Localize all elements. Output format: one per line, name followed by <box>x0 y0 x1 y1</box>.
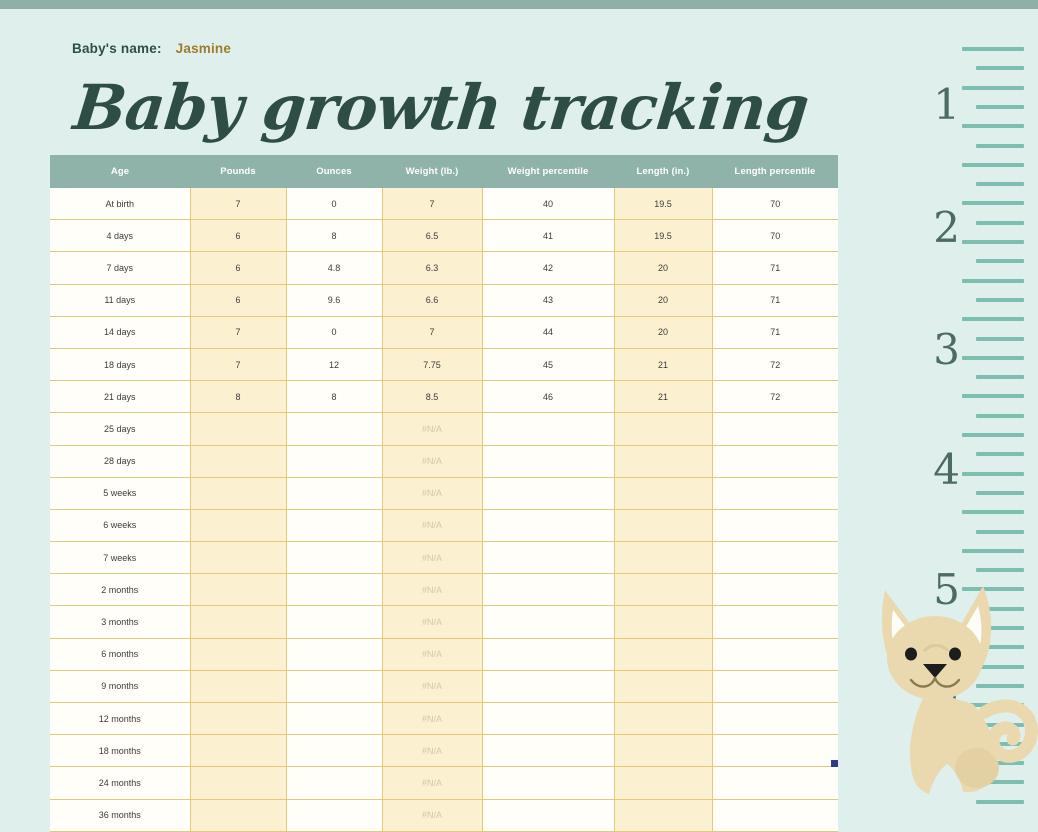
cell-age[interactable]: 18 months <box>50 735 190 767</box>
table-cell[interactable] <box>482 413 614 445</box>
table-cell[interactable]: #N/A <box>382 606 482 638</box>
table-cell[interactable]: 45 <box>482 348 614 380</box>
table-cell[interactable] <box>712 670 838 702</box>
table-cell[interactable] <box>482 638 614 670</box>
table-row[interactable]: 28 days#N/A <box>50 445 838 477</box>
table-cell[interactable] <box>286 767 382 799</box>
column-header-pounds: Pounds <box>190 155 286 188</box>
table-cell[interactable]: 7.75 <box>382 348 482 380</box>
table-cell[interactable] <box>190 799 286 831</box>
table-cell[interactable]: #N/A <box>382 670 482 702</box>
column-header-length-percentile: Length percentile <box>712 155 838 188</box>
table-cell[interactable]: 8 <box>286 381 382 413</box>
table-cell[interactable] <box>482 445 614 477</box>
ruler-tick <box>962 279 1024 283</box>
table-row[interactable]: 6 months#N/A <box>50 638 838 670</box>
table-cell[interactable] <box>190 670 286 702</box>
ruler-tick <box>962 240 1024 244</box>
table-cell[interactable] <box>190 606 286 638</box>
table-cell[interactable]: #N/A <box>382 542 482 574</box>
column-header-weight-percentile: Weight percentile <box>482 155 614 188</box>
table-row[interactable]: 4 days686.54119.570 <box>50 220 838 252</box>
table-cell[interactable]: 12 <box>286 348 382 380</box>
table-cell[interactable]: 21 <box>614 348 712 380</box>
table-cell[interactable] <box>614 413 712 445</box>
table-cell[interactable]: 6.6 <box>382 284 482 316</box>
table-cell[interactable]: 43 <box>482 284 614 316</box>
table-row[interactable]: 7 days64.86.3422071 <box>50 252 838 284</box>
table-cell[interactable]: 71 <box>712 252 838 284</box>
table-cell[interactable] <box>712 542 838 574</box>
ruler-tick <box>976 414 1024 418</box>
table-cell[interactable] <box>190 735 286 767</box>
table-cell[interactable] <box>614 574 712 606</box>
table-row[interactable]: 7 weeks#N/A <box>50 542 838 574</box>
table-cell[interactable]: #N/A <box>382 413 482 445</box>
ruler-tick <box>976 452 1024 456</box>
baby-name-label: Baby's name: <box>72 41 162 56</box>
table-row[interactable]: 36 months#N/A <box>50 799 838 831</box>
table-cell[interactable] <box>482 509 614 541</box>
table-cell[interactable]: #N/A <box>382 703 482 735</box>
table-cell[interactable] <box>712 606 838 638</box>
table-row[interactable]: At birth7074019.570 <box>50 188 838 220</box>
column-header-weight-lb: Weight (lb.) <box>382 155 482 188</box>
table-cell[interactable] <box>286 574 382 606</box>
ruler-tick <box>976 182 1024 186</box>
table-cell[interactable] <box>190 574 286 606</box>
cell-age[interactable]: 6 weeks <box>50 509 190 541</box>
table-cell[interactable] <box>712 735 838 767</box>
table-cell[interactable]: 9.6 <box>286 284 382 316</box>
table-cell[interactable]: #N/A <box>382 799 482 831</box>
table-cell[interactable]: 72 <box>712 348 838 380</box>
table-cell[interactable] <box>712 799 838 831</box>
table-cell[interactable] <box>614 799 712 831</box>
cell-age[interactable]: 4 days <box>50 220 190 252</box>
table-cell[interactable] <box>286 413 382 445</box>
table-cell[interactable] <box>482 670 614 702</box>
table-cell[interactable] <box>190 542 286 574</box>
table-cell[interactable] <box>190 477 286 509</box>
table-cell[interactable]: 70 <box>712 220 838 252</box>
table-cell[interactable] <box>712 767 838 799</box>
growth-table[interactable]: AgePoundsOuncesWeight (lb.)Weight percen… <box>50 155 838 832</box>
table-cell[interactable]: 46 <box>482 381 614 413</box>
table-cell[interactable] <box>482 574 614 606</box>
table-cell[interactable] <box>614 703 712 735</box>
cell-age[interactable]: At birth <box>50 188 190 220</box>
table-cell[interactable]: 7 <box>190 348 286 380</box>
table-cell[interactable] <box>712 413 838 445</box>
ruler-tick <box>976 337 1024 341</box>
ruler-tick <box>962 394 1024 398</box>
ruler-tick <box>962 86 1024 90</box>
table-cell[interactable]: #N/A <box>382 638 482 670</box>
ruler-tick <box>976 259 1024 263</box>
table-cell[interactable]: 72 <box>712 381 838 413</box>
column-header-ounces: Ounces <box>286 155 382 188</box>
cell-age[interactable]: 7 days <box>50 252 190 284</box>
ruler-tick <box>962 549 1024 553</box>
table-cell[interactable] <box>614 638 712 670</box>
cell-age[interactable]: 5 weeks <box>50 477 190 509</box>
table-cell[interactable] <box>286 638 382 670</box>
cell-age[interactable]: 28 days <box>50 445 190 477</box>
table-cell[interactable]: 21 <box>614 381 712 413</box>
cell-age[interactable]: 2 months <box>50 574 190 606</box>
table-cell[interactable]: 20 <box>614 284 712 316</box>
ruler-tick <box>976 221 1024 225</box>
table-cell[interactable]: #N/A <box>382 735 482 767</box>
cell-age[interactable]: 14 days <box>50 316 190 348</box>
table-cell[interactable] <box>712 638 838 670</box>
table-cell[interactable]: #N/A <box>382 509 482 541</box>
table-cell[interactable]: 70 <box>712 188 838 220</box>
ruler-tick <box>962 201 1024 205</box>
table-cell[interactable] <box>482 703 614 735</box>
top-accent-bar <box>0 0 1038 9</box>
cell-age[interactable]: 21 days <box>50 381 190 413</box>
ruler-tick <box>962 510 1024 514</box>
table-cell[interactable] <box>712 574 838 606</box>
table-cell[interactable]: 44 <box>482 316 614 348</box>
table-cell[interactable]: 7 <box>382 188 482 220</box>
table-cell[interactable] <box>712 445 838 477</box>
table-cell[interactable] <box>190 703 286 735</box>
table-cell[interactable]: 71 <box>712 284 838 316</box>
table-cell[interactable]: 19.5 <box>614 188 712 220</box>
table-cell[interactable] <box>614 735 712 767</box>
table-row[interactable]: 25 days#N/A <box>50 413 838 445</box>
table-row[interactable]: 6 weeks#N/A <box>50 509 838 541</box>
baby-name-line: Baby's name: Jasmine <box>72 41 231 56</box>
table-cell[interactable] <box>286 670 382 702</box>
table-cell[interactable]: 7 <box>190 316 286 348</box>
ruler-tick <box>976 491 1024 495</box>
table-cell[interactable] <box>482 767 614 799</box>
table-row[interactable]: 18 days7127.75452172 <box>50 348 838 380</box>
page-title: Baby growth tracking <box>70 71 811 144</box>
table-cell[interactable] <box>482 799 614 831</box>
table-cell[interactable] <box>286 703 382 735</box>
cell-age[interactable]: 25 days <box>50 413 190 445</box>
ruler-tick <box>962 472 1024 476</box>
table-row[interactable]: 3 months#N/A <box>50 606 838 638</box>
table-cell[interactable] <box>482 477 614 509</box>
document-page: Baby's name: Jasmine Baby growth trackin… <box>0 9 1038 800</box>
ruler-number: 1 <box>933 84 960 126</box>
ruler-tick <box>976 375 1024 379</box>
table-cell[interactable]: #N/A <box>382 445 482 477</box>
table-cell[interactable]: 6 <box>190 284 286 316</box>
table-row[interactable]: 11 days69.66.6432071 <box>50 284 838 316</box>
ruler-tick <box>962 433 1024 437</box>
table-cell[interactable]: 20 <box>614 316 712 348</box>
cell-age[interactable]: 24 months <box>50 767 190 799</box>
table-cell[interactable] <box>614 509 712 541</box>
table-cell[interactable] <box>614 767 712 799</box>
table-cell[interactable] <box>614 445 712 477</box>
table-cell[interactable]: 6 <box>190 252 286 284</box>
table-cell[interactable] <box>614 606 712 638</box>
ruler-tick <box>962 163 1024 167</box>
table-cell[interactable] <box>190 445 286 477</box>
ruler-tick <box>962 124 1024 128</box>
table-cell[interactable]: 8.5 <box>382 381 482 413</box>
table-cell[interactable] <box>614 542 712 574</box>
cell-age[interactable]: 3 months <box>50 606 190 638</box>
table-cell[interactable]: 8 <box>286 220 382 252</box>
table-cell[interactable]: 0 <box>286 188 382 220</box>
ruler-number: 4 <box>933 449 960 491</box>
table-cell[interactable]: 0 <box>286 316 382 348</box>
baby-name-value[interactable]: Jasmine <box>176 41 231 56</box>
ruler-tick <box>976 105 1024 109</box>
table-cell[interactable]: 19.5 <box>614 220 712 252</box>
table-row[interactable]: 2 months#N/A <box>50 574 838 606</box>
ruler-tick <box>962 356 1024 360</box>
table-cell[interactable]: 42 <box>482 252 614 284</box>
table-cell[interactable] <box>190 638 286 670</box>
column-header-length-in: Length (in.) <box>614 155 712 188</box>
table-cell[interactable] <box>286 445 382 477</box>
table-cell[interactable]: #N/A <box>382 574 482 606</box>
table-cell[interactable]: 6.5 <box>382 220 482 252</box>
table-cell[interactable] <box>286 542 382 574</box>
table-cell[interactable]: 41 <box>482 220 614 252</box>
table-cell[interactable] <box>190 767 286 799</box>
table-cell[interactable] <box>190 413 286 445</box>
table-cell[interactable] <box>286 509 382 541</box>
table-cell[interactable]: 7 <box>382 316 482 348</box>
table-cell[interactable] <box>614 477 712 509</box>
table-cell[interactable]: 7 <box>190 188 286 220</box>
table-cell[interactable] <box>286 606 382 638</box>
cell-age[interactable]: 9 months <box>50 670 190 702</box>
column-header-age: Age <box>50 155 190 188</box>
table-cell[interactable] <box>712 509 838 541</box>
table-cell[interactable] <box>286 799 382 831</box>
table-cell[interactable]: 4.8 <box>286 252 382 284</box>
table-cell[interactable] <box>482 606 614 638</box>
table-row[interactable]: 18 months#N/A <box>50 735 838 767</box>
table-cell[interactable]: 20 <box>614 252 712 284</box>
table-header-row: AgePoundsOuncesWeight (lb.)Weight percen… <box>50 155 838 188</box>
table-row[interactable]: 24 months#N/A <box>50 767 838 799</box>
table-cell[interactable]: #N/A <box>382 767 482 799</box>
table-body[interactable]: At birth7074019.5704 days686.54119.5707 … <box>50 188 838 831</box>
table-cell[interactable]: #N/A <box>382 477 482 509</box>
ruler-tick <box>976 144 1024 148</box>
table-cell[interactable] <box>190 509 286 541</box>
cell-age[interactable]: 11 days <box>50 284 190 316</box>
table-row[interactable]: 14 days707442071 <box>50 316 838 348</box>
ruler-tick <box>976 530 1024 534</box>
table-cell[interactable]: 6 <box>190 220 286 252</box>
ruler-tick <box>976 66 1024 70</box>
table-row[interactable]: 9 months#N/A <box>50 670 838 702</box>
ruler-tick <box>962 47 1024 51</box>
table-cell[interactable] <box>482 735 614 767</box>
table-cell[interactable] <box>712 477 838 509</box>
table-cell[interactable] <box>286 477 382 509</box>
table-row[interactable]: 12 months#N/A <box>50 703 838 735</box>
cell-age[interactable]: 6 months <box>50 638 190 670</box>
ruler-number: 2 <box>933 207 960 249</box>
ruler-number: 3 <box>933 329 960 371</box>
cell-age[interactable]: 36 months <box>50 799 190 831</box>
ruler-tick <box>962 317 1024 321</box>
cell-age[interactable]: 12 months <box>50 703 190 735</box>
table-cell[interactable] <box>712 703 838 735</box>
cell-age[interactable]: 18 days <box>50 348 190 380</box>
table-cell[interactable] <box>482 542 614 574</box>
table-cell[interactable]: 6.3 <box>382 252 482 284</box>
table-cell[interactable]: 40 <box>482 188 614 220</box>
selection-handle[interactable] <box>831 760 838 767</box>
table-row[interactable]: 5 weeks#N/A <box>50 477 838 509</box>
table-cell[interactable]: 8 <box>190 381 286 413</box>
table-cell[interactable] <box>614 670 712 702</box>
cell-age[interactable]: 7 weeks <box>50 542 190 574</box>
chihuahua-illustration <box>855 572 1038 809</box>
table-cell[interactable] <box>286 735 382 767</box>
table-row[interactable]: 21 days888.5462172 <box>50 381 838 413</box>
ruler-tick <box>976 298 1024 302</box>
table-cell[interactable]: 71 <box>712 316 838 348</box>
